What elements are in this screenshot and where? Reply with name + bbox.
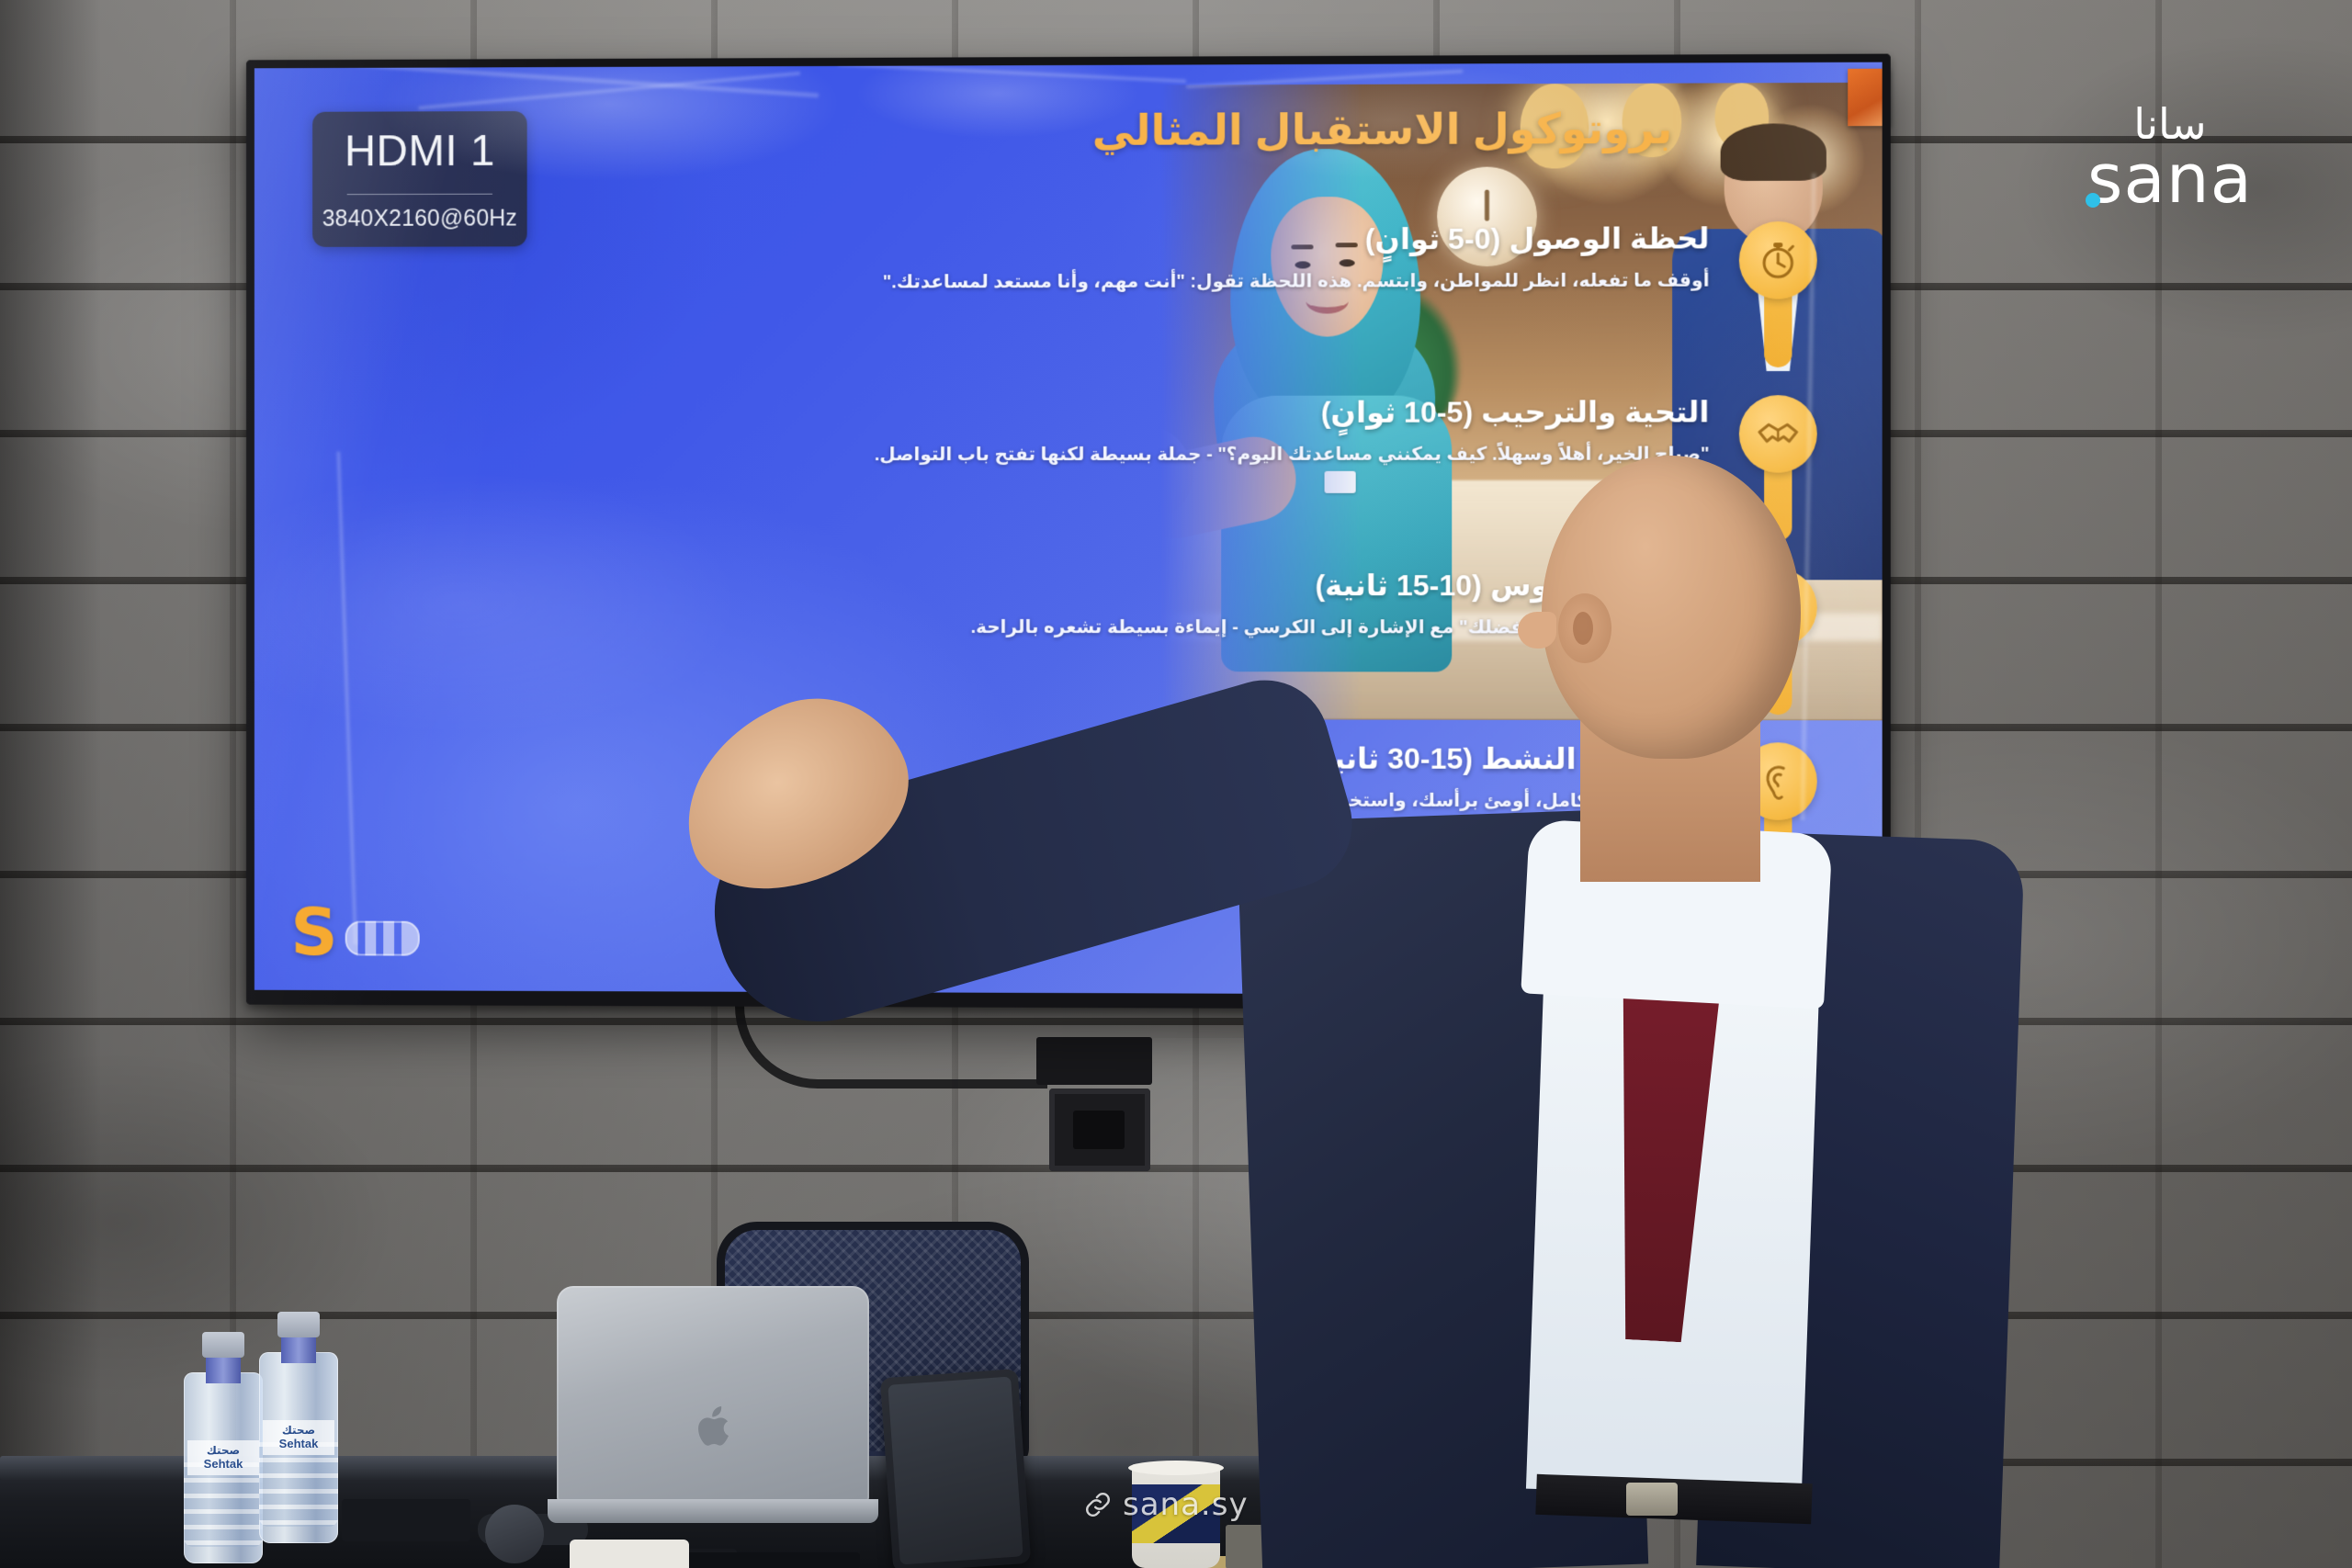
slide-brand-bars-icon (345, 921, 420, 956)
watermark-text: sana.sy (1123, 1486, 1249, 1523)
step-title: التحية والترحيب (5-10 ثوانٍ) (761, 393, 1710, 431)
wall-plate-upper (1036, 1037, 1152, 1085)
presenter-ear (1558, 593, 1611, 663)
bottle-label-latin: Sehtak (279, 1437, 319, 1450)
bottle-label-arabic: صحتك (187, 1444, 259, 1457)
apple-logo-icon (694, 1404, 732, 1450)
step-pin-marker (1739, 221, 1817, 371)
pin-stem (1764, 288, 1792, 367)
stopwatch-icon (1756, 238, 1801, 282)
photo-scene: بروتوكول الاستقبال المثالي (0, 0, 2352, 1568)
second-cup (570, 1540, 689, 1568)
hdmi-input-osd: HDMI 1 3840X2160@60Hz (312, 111, 527, 247)
bottle-cap (202, 1332, 244, 1358)
mouse (485, 1505, 544, 1563)
phone-screen[interactable] (888, 1377, 1023, 1565)
presenter-person (1194, 432, 2003, 1568)
sana-logo-latin: sana (2087, 147, 2253, 211)
smartphone[interactable] (880, 1369, 1031, 1568)
laptop-lid (557, 1286, 869, 1503)
wall-left-shadow (0, 0, 101, 1568)
step-description: أوقف ما تفعله، انظر للمواطن، وابتسم. هذه… (761, 268, 1710, 296)
link-icon (1082, 1489, 1114, 1520)
remote-control (342, 1499, 470, 1541)
presenter-nose (1518, 612, 1556, 649)
bottle-label-arabic: صحتك (263, 1424, 334, 1437)
water-bottle: صحتك Sehtak (259, 1314, 338, 1543)
bottle-cap (277, 1312, 320, 1337)
slide-title: بروتوكول الاستقبال المثالي (885, 103, 1882, 156)
water-bottle: صحتك Sehtak (184, 1334, 263, 1563)
bottle-label: صحتك Sehtak (187, 1440, 259, 1475)
laptop-base (548, 1499, 878, 1523)
tv-power-cable (735, 1006, 1047, 1089)
laptop[interactable] (548, 1286, 878, 1562)
sana-logo: سانا sana (2087, 103, 2253, 211)
hdmi-divider (347, 194, 492, 195)
wall-socket-box (1049, 1089, 1150, 1171)
hdmi-resolution-label: 3840X2160@60Hz (322, 206, 517, 232)
bottle-label: صحتك Sehtak (263, 1420, 334, 1455)
slide-brand-mark: S (290, 907, 337, 959)
slide-step: لحظة الوصول (0-5 ثوانٍ) أوقف ما تفعله، ا… (761, 220, 1849, 340)
step-title: لحظة الوصول (0-5 ثوانٍ) (761, 220, 1710, 258)
slide-brand-letter: S (290, 894, 337, 971)
sana-logo-latin-text: sana (2087, 140, 2253, 219)
tv-corner-sticker (1848, 69, 1891, 127)
sana-sy-watermark: sana.sy (1082, 1486, 1249, 1523)
presenter-belt-buckle (1626, 1483, 1678, 1516)
hdmi-input-label: HDMI 1 (345, 130, 495, 174)
pin-head (1739, 221, 1817, 299)
bottle-label-latin: Sehtak (204, 1457, 243, 1471)
